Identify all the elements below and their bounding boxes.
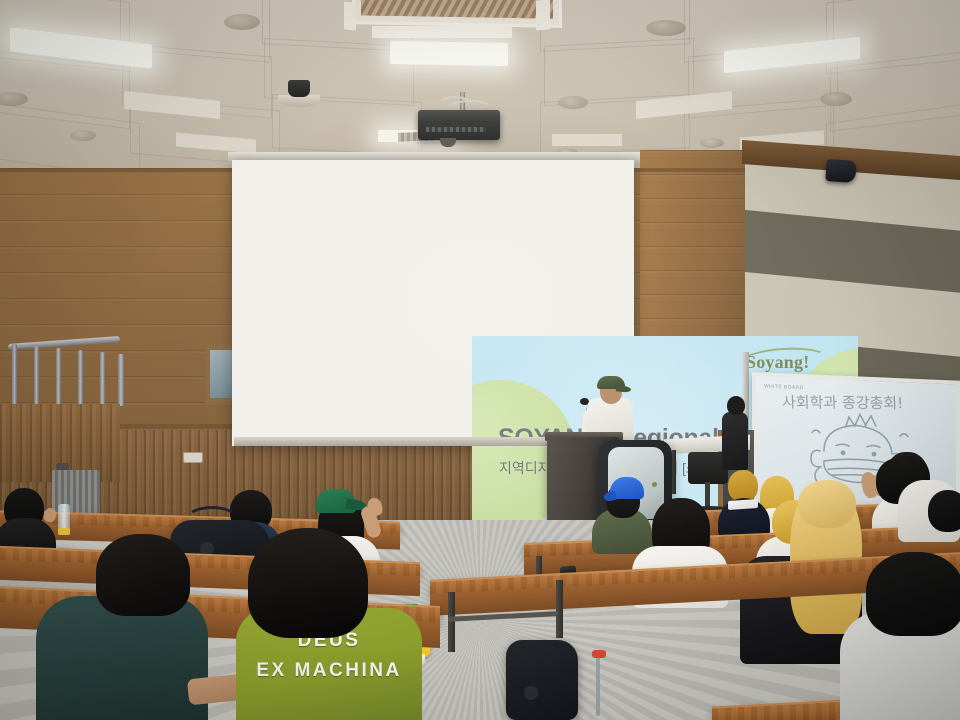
lecture-hall-photo: Soyang! ··· SOYANG, Regional Design 지역디자… [0,0,960,720]
person-by-whiteboard [722,412,748,470]
whiteboard-brand-label: WHITE BOARD [764,384,804,392]
ceiling-speaker-icon [288,80,310,97]
person-by-whiteboard-head [727,396,745,415]
slide-logo-text: Soyang! [746,352,809,373]
chair-stem [705,482,710,508]
ceiling-air-vent-icon [352,0,562,28]
audience-member-head [798,480,856,528]
black-backpack [506,640,578,720]
ceiling-panel-light [390,41,508,66]
equipment-case-latch-icon [652,482,657,487]
wall-speaker-icon [825,159,856,183]
projection-screen: Soyang! ··· SOYANG, Regional Design 지역디자… [232,160,634,446]
ceiling-projector-icon [418,110,500,140]
audience-member-head [866,552,960,636]
wall-outlet-icon [183,452,203,463]
audience-member-hair [248,528,368,638]
bottle-cap [58,528,70,535]
audience-member-head [96,534,190,616]
audience-member-head [928,490,960,532]
shirt-text-line2: EX MACHINA [236,660,422,682]
